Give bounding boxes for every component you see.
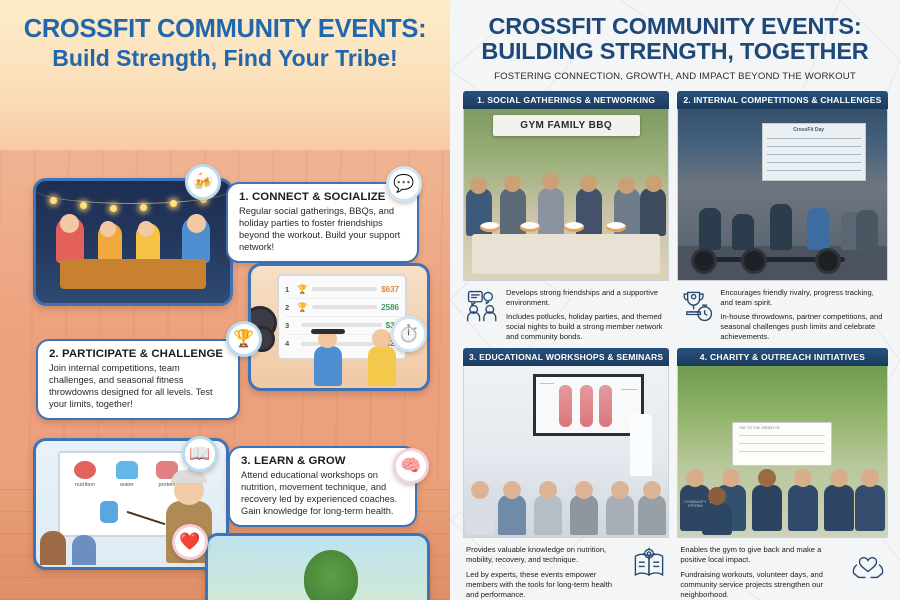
- speech-people-icon: [466, 288, 500, 324]
- trophy-icon: 🏆: [297, 302, 308, 313]
- speech-bubble-icon: 💬: [386, 166, 422, 202]
- quadrant-1-heading: 1. SOCIAL GATHERINGS & NETWORKING: [463, 91, 669, 109]
- stopwatch-icon: ⏱️: [391, 316, 427, 352]
- squat-diagram: [100, 501, 118, 523]
- presenter-figure: [630, 414, 652, 476]
- left-title-line1: CROSSFIT COMMUNITY EVENTS:: [18, 16, 432, 43]
- quadrant-3-secondary: Led by experts, these events empower mem…: [466, 570, 626, 600]
- open-book-icon: 📖: [182, 436, 218, 472]
- quadrant-3-image: [463, 366, 669, 538]
- quadrant-1: 1. SOCIAL GATHERINGS & NETWORKING GYM FA…: [463, 91, 669, 342]
- right-title-block: CROSSFIT COMMUNITY EVENTS: BUILDING STRE…: [450, 0, 900, 64]
- cheers-beer-icon: 🍻: [185, 164, 221, 200]
- table-row: 2 🏆 2586: [285, 299, 399, 317]
- heart-hands-icon: [851, 545, 885, 581]
- quadrant-1-body: Develops strong friendships and a suppor…: [463, 281, 669, 342]
- right-panel: CROSSFIT COMMUNITY EVENTS: BUILDING STRE…: [450, 0, 900, 600]
- left-card-2-body: Join internal competitions, team challen…: [49, 362, 228, 410]
- score-bar: [312, 287, 378, 291]
- left-panel: CROSSFIT COMMUNITY EVENTS: Build Strengt…: [0, 0, 450, 600]
- quadrant-1-secondary: Includes potlucks, holiday parties, and …: [506, 312, 666, 342]
- quadrant-2-secondary: In-house throwdowns, partner competition…: [720, 312, 884, 342]
- trophy-stopwatch-icon: [680, 288, 714, 324]
- quadrant-4: 4. CHARITY & OUTREACH INITIATIVES PAY TO…: [677, 348, 887, 599]
- student-figure: [40, 531, 66, 565]
- quadrant-1-image: GYM FAMILY BBQ: [463, 109, 669, 281]
- quadrant-grid: 1. SOCIAL GATHERINGS & NETWORKING GYM FA…: [450, 82, 900, 600]
- right-title-line2: BUILDING STRENGTH, TOGETHER: [464, 39, 886, 63]
- quadrant-4-body: Enables the gym to give back and make a …: [677, 538, 887, 599]
- quadrant-3: 3. EDUCATIONAL WORKSHOPS & SEMINARS: [463, 348, 669, 599]
- trophy-icon: 🏆: [226, 321, 262, 357]
- lifter-figure: [305, 324, 351, 386]
- open-book-gear-icon: [632, 545, 666, 581]
- infographic-poster: CROSSFIT COMMUNITY EVENTS: Build Strengt…: [0, 0, 900, 600]
- quadrant-1-primary: Develops strong friendships and a suppor…: [506, 288, 666, 308]
- left-card-3-text: 3. LEARN & GROW Attend educational works…: [228, 446, 417, 527]
- left-card-3-heading: 3. LEARN & GROW: [241, 455, 405, 467]
- gym-scoreboard: CrossFit Day: [762, 123, 866, 181]
- bbq-banner-text: GYM FAMILY BBQ: [493, 115, 640, 136]
- quadrant-2-heading: 2. INTERNAL COMPETITIONS & CHALLENGES: [677, 91, 887, 109]
- quadrant-4-primary: Enables the gym to give back and make a …: [680, 545, 844, 565]
- water-bottle-icon: [116, 461, 138, 479]
- left-card-1-body: Regular social gatherings, BBQs, and hol…: [239, 205, 407, 253]
- table-row: 1 🏆 $637: [285, 281, 399, 299]
- quadrant-2-primary: Encourages friendly rivalry, progress tr…: [720, 288, 884, 308]
- student-figure: [72, 535, 96, 565]
- whiteboard-label: nutrition: [70, 482, 100, 488]
- apple-icon: [74, 461, 96, 479]
- left-card-2-heading: 2. PARTICIPATE & CHALLENGE: [49, 348, 228, 360]
- rank: 3: [285, 321, 293, 330]
- left-card-4-photo: [205, 533, 430, 600]
- brain-gear-icon: 🧠: [393, 448, 429, 484]
- presentation-screen: [533, 374, 643, 436]
- score-bar: [312, 305, 378, 309]
- whiteboard-label: water: [112, 482, 142, 488]
- left-title-line2: Build Strength, Find Your Tribe!: [18, 45, 432, 72]
- quadrant-4-heading: 4. CHARITY & OUTREACH INITIATIVES: [677, 348, 887, 366]
- score-value: $637: [381, 285, 399, 294]
- scoreboard-title: CrossFit Day: [793, 127, 824, 133]
- rank: 2: [285, 303, 293, 312]
- quadrant-3-primary: Provides valuable knowledge on nutrition…: [466, 545, 626, 565]
- quadrant-2: 2. INTERNAL COMPETITIONS & CHALLENGES Cr…: [677, 91, 887, 342]
- rank: 1: [285, 285, 293, 294]
- tree-illustration: [304, 550, 358, 600]
- quadrant-2-body: Encourages friendly rivalry, progress tr…: [677, 281, 887, 342]
- right-subtitle: FOSTERING CONNECTION, GROWTH, AND IMPACT…: [450, 71, 900, 82]
- oversized-charity-check: PAY TO THE ORDER OF: [732, 422, 832, 466]
- left-card-1-heading: 1. CONNECT & SOCIALIZE: [239, 191, 407, 203]
- quadrant-3-heading: 3. EDUCATIONAL WORKSHOPS & SEMINARS: [463, 348, 669, 366]
- heart-icon: ❤️: [172, 524, 208, 560]
- score-value: 2586: [381, 303, 399, 312]
- left-title-block: CROSSFIT COMMUNITY EVENTS: Build Strengt…: [0, 0, 450, 78]
- right-title-line1: CROSSFIT COMMUNITY EVENTS:: [464, 14, 886, 38]
- left-card-3-body: Attend educational workshops on nutritio…: [241, 469, 405, 517]
- left-card-2-text: 2. PARTICIPATE & CHALLENGE Join internal…: [36, 339, 240, 420]
- quadrant-4-secondary: Fundraising workouts, volunteer days, an…: [680, 570, 844, 600]
- rank: 4: [285, 339, 293, 348]
- quadrant-3-body: Provides valuable knowledge on nutrition…: [463, 538, 669, 599]
- picnic-table: [60, 259, 206, 289]
- quadrant-2-image: CrossFit Day: [677, 109, 887, 281]
- trophy-icon: 🏆: [297, 284, 308, 295]
- bbq-people-group: [52, 211, 214, 263]
- quadrant-4-image: PAY TO THE ORDER OF COMMUNITY STRONG: [677, 366, 887, 538]
